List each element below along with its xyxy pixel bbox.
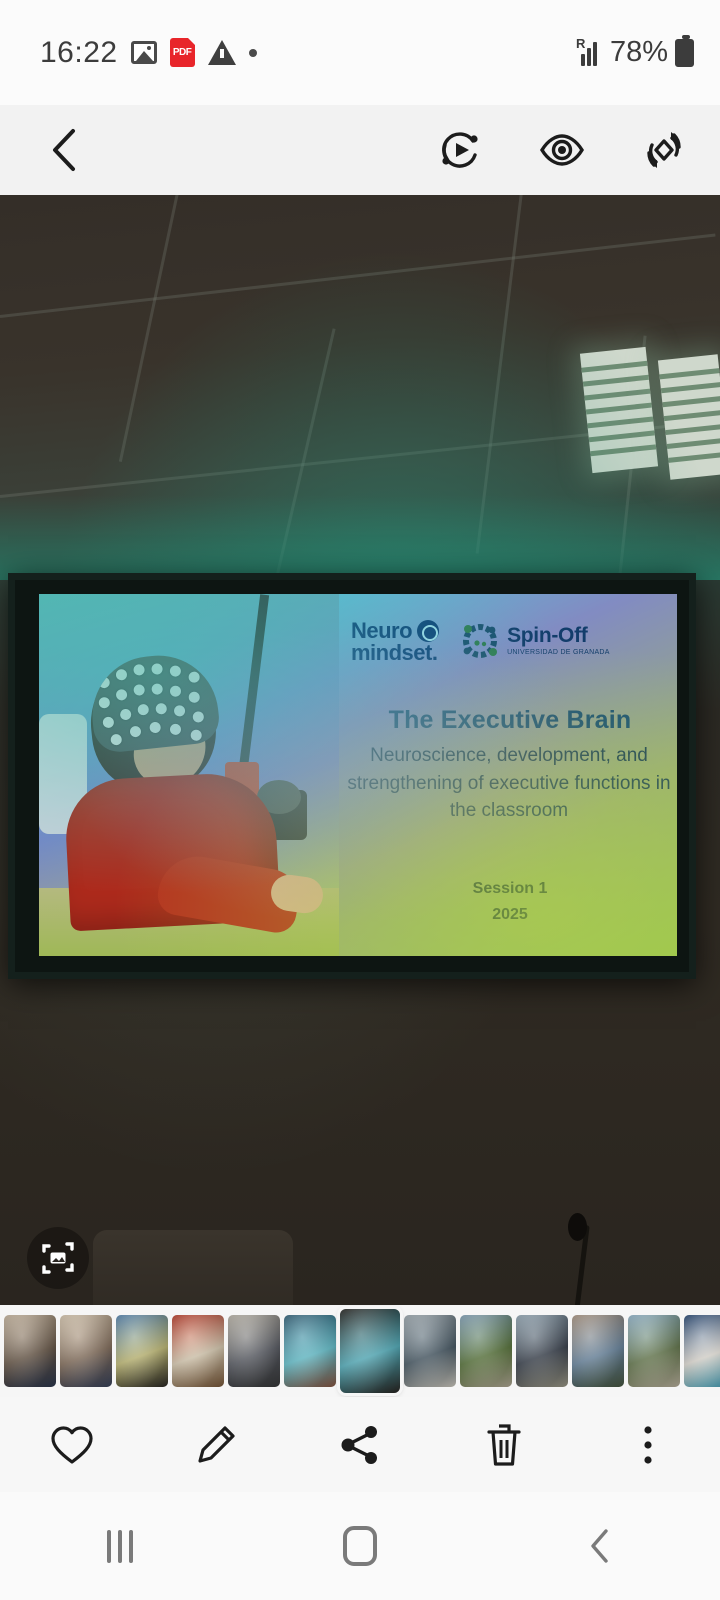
- roaming-label: R: [576, 36, 585, 51]
- slide-title: The Executive Brain: [345, 706, 675, 735]
- phone-screen: 16:22 PDF R 78%: [0, 0, 720, 1600]
- slide-text-area: Neuro mindset.: [339, 594, 677, 956]
- edit-button[interactable]: [144, 1397, 288, 1492]
- thumb-meeting-room[interactable]: [116, 1315, 168, 1387]
- back-chevron-icon: [47, 125, 81, 175]
- thumbnail-overlay: [572, 1315, 624, 1387]
- more-button[interactable]: [576, 1397, 720, 1492]
- spinoff-label: Spin-Off: [507, 620, 610, 646]
- status-bar: 16:22 PDF R 78%: [0, 0, 720, 105]
- thumb-building-facade[interactable]: [572, 1315, 624, 1387]
- nav-back-button[interactable]: [480, 1526, 720, 1566]
- slide-photo: [39, 594, 339, 956]
- share-icon: [338, 1423, 382, 1467]
- thumb-people-walking[interactable]: [516, 1315, 568, 1387]
- thumb-current-slide[interactable]: [340, 1309, 400, 1393]
- thumb-plaza[interactable]: [628, 1315, 680, 1387]
- favorite-button[interactable]: [0, 1397, 144, 1492]
- delete-button[interactable]: [432, 1397, 576, 1492]
- thumb-indoor-screen[interactable]: [284, 1315, 336, 1387]
- signal-icon: R: [578, 40, 603, 66]
- thumbnail-overlay: [284, 1315, 336, 1387]
- thumb-people-indoors-2[interactable]: [60, 1315, 112, 1387]
- spinoff-logo: Spin-Off UNIVERSIDAD DE GRANADA: [459, 620, 610, 656]
- back-icon: [587, 1526, 613, 1566]
- visual-search-icon[interactable]: [536, 124, 588, 176]
- thumbnail-overlay: [628, 1315, 680, 1387]
- projector-screen: Neuro mindset.: [8, 573, 696, 979]
- nav-home-button[interactable]: [240, 1526, 480, 1566]
- thumbnail-overlay: [172, 1315, 224, 1387]
- ceiling-light-icon: [580, 347, 658, 473]
- spinoff-ring-icon: [459, 620, 501, 662]
- motion-photo-icon[interactable]: [434, 124, 486, 176]
- rotate-refresh-icon[interactable]: [638, 124, 690, 176]
- trash-icon: [484, 1422, 524, 1468]
- slide-session: Session 1: [345, 880, 675, 898]
- pdf-icon: PDF: [170, 38, 195, 67]
- brain-icon: [417, 620, 439, 642]
- thumb-couple-poster[interactable]: [228, 1315, 280, 1387]
- microphone-icon: [568, 1213, 587, 1241]
- toolbar-actions: [434, 124, 690, 176]
- back-button[interactable]: [38, 124, 90, 176]
- nav-recents-button[interactable]: [0, 1530, 240, 1563]
- slide-year: 2025: [345, 906, 675, 924]
- recents-icon: [107, 1530, 133, 1563]
- thumbnail-overlay: [116, 1315, 168, 1387]
- status-bar-right: R 78%: [578, 36, 694, 69]
- pencil-icon: [194, 1423, 238, 1467]
- action-bar: [0, 1397, 720, 1492]
- thumbnail-overlay: [460, 1315, 512, 1387]
- neuro-logo-line1: Neuro: [351, 620, 412, 642]
- dot-icon: [249, 49, 257, 57]
- thumb-red-closeup[interactable]: [172, 1315, 224, 1387]
- battery-icon: [675, 39, 694, 67]
- top-toolbar: [0, 105, 720, 195]
- thumb-people-indoors-1[interactable]: [4, 1315, 56, 1387]
- photo-viewer[interactable]: Neuro mindset.: [0, 195, 720, 1305]
- ceiling-light-icon: [658, 354, 720, 480]
- filmstrip[interactable]: [0, 1305, 720, 1397]
- status-time: 16:22: [40, 36, 118, 70]
- more-vertical-icon: [639, 1423, 657, 1467]
- presentation-slide: Neuro mindset.: [39, 594, 677, 956]
- eeg-cap-icon: [87, 650, 222, 755]
- status-bar-left: 16:22 PDF: [40, 36, 257, 70]
- warning-icon: [208, 40, 236, 65]
- thumbnail-overlay: [516, 1315, 568, 1387]
- home-icon: [343, 1526, 377, 1566]
- thumbnail-overlay: [228, 1315, 280, 1387]
- navigation-bar: [0, 1492, 720, 1600]
- battery-percent: 78%: [610, 36, 668, 69]
- neuro-logo-line2: mindset.: [351, 642, 439, 664]
- share-button[interactable]: [288, 1397, 432, 1492]
- thumb-street-trees[interactable]: [460, 1315, 512, 1387]
- thumbnail-overlay: [340, 1309, 400, 1393]
- thumbnail-overlay: [4, 1315, 56, 1387]
- thumb-lobby[interactable]: [404, 1315, 456, 1387]
- image-notification-icon: [131, 41, 157, 64]
- heart-icon: [50, 1424, 94, 1466]
- thumb-web-poster[interactable]: [684, 1315, 720, 1387]
- thumbnail-overlay: [684, 1315, 720, 1387]
- scan-image-button[interactable]: [27, 1227, 89, 1289]
- slide-subtitle: Neuroscience, development, and strengthe…: [341, 742, 677, 825]
- slide-logos: Neuro mindset.: [351, 620, 669, 664]
- thumbnail-overlay: [404, 1315, 456, 1387]
- thumbnail-overlay: [60, 1315, 112, 1387]
- image-scan-icon: [41, 1241, 75, 1275]
- spinoff-sublabel: UNIVERSIDAD DE GRANADA: [507, 649, 610, 656]
- chair-object: [93, 1230, 293, 1305]
- neuromindset-logo: Neuro mindset.: [351, 620, 439, 664]
